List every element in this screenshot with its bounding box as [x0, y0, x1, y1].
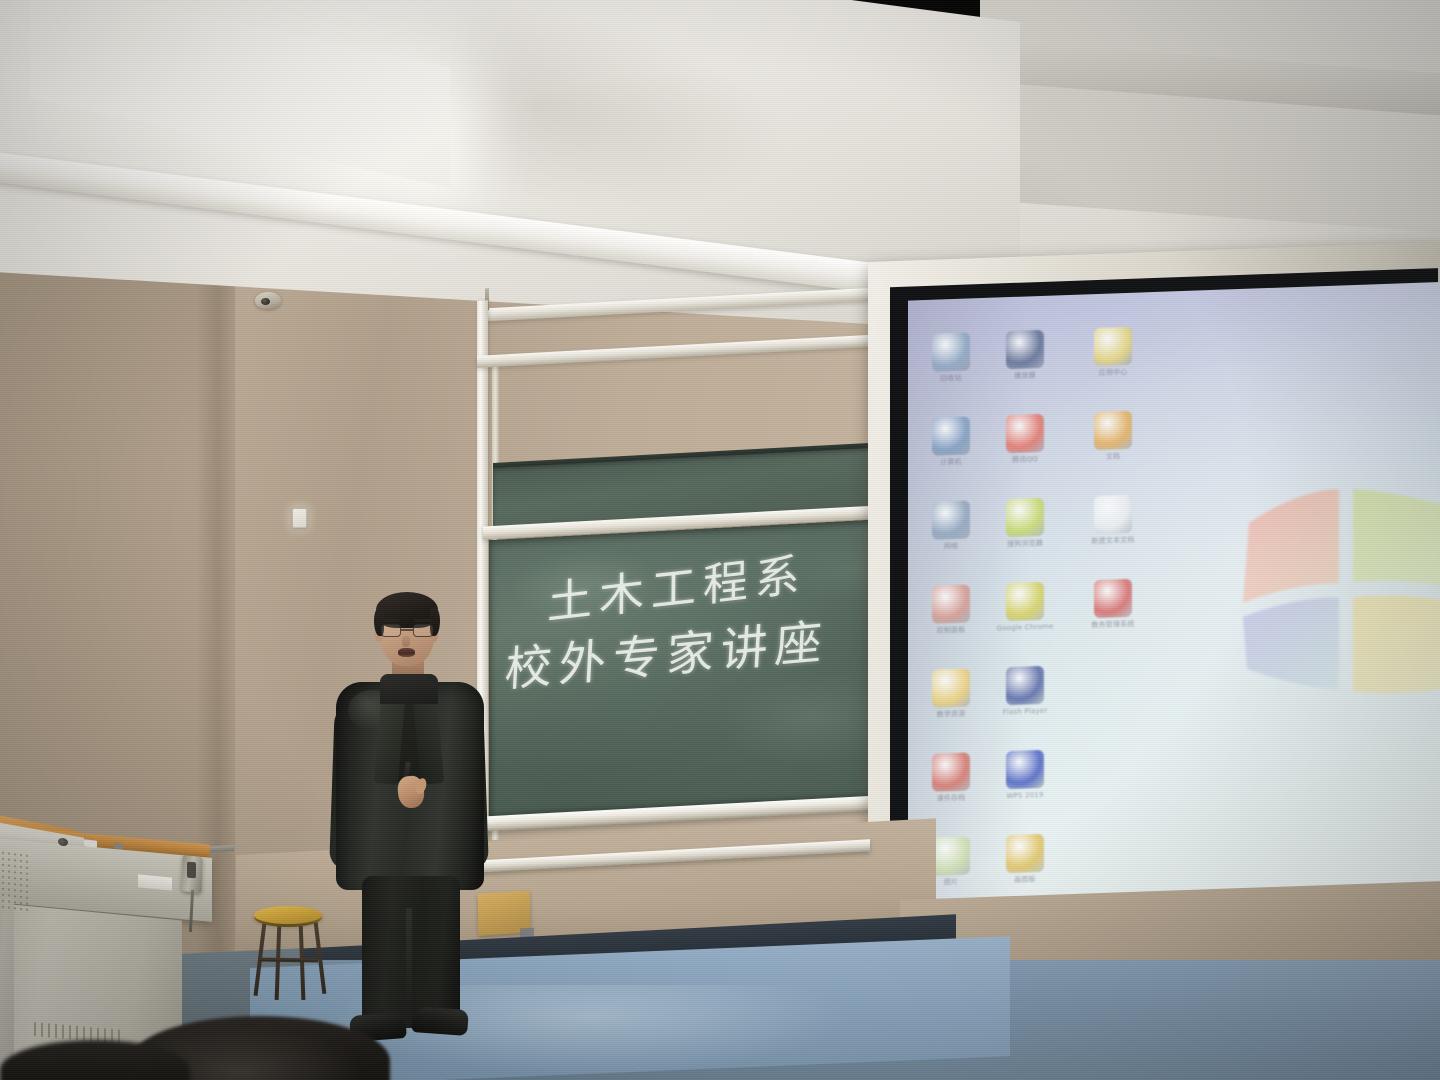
- windows-7-logo-icon: [1213, 461, 1440, 720]
- app-grid-icon: [1094, 327, 1132, 366]
- lecturer-mouth-open: [398, 648, 415, 657]
- main-chalkboard: 土木工程系 校外专家讲座: [489, 517, 925, 818]
- lecturer: [318, 590, 498, 1040]
- desktop-icon-paint-icon[interactable]: 画图板: [994, 833, 1056, 884]
- lecturer-nose: [402, 636, 410, 647]
- desktop-icon-label: 腾讯QQ: [994, 454, 1056, 464]
- desktop-icon-archive-icon[interactable]: 课件存档: [920, 752, 982, 803]
- archive-icon: [932, 752, 970, 791]
- qq-penguin-icon: [1006, 414, 1044, 453]
- projected-desktop[interactable]: 回收站计算机网络控制面板教学资源课件存档图片播放器腾讯QQ搜狗浏览器Google…: [908, 282, 1440, 923]
- lectern-knob[interactable]: [58, 837, 68, 846]
- text-file-icon: [1094, 495, 1132, 534]
- chalkboard-unit: 土木工程系 校外专家讲座: [455, 275, 915, 870]
- desktop-icon-control-panel-icon[interactable]: 控制面板: [920, 584, 982, 635]
- desktop-icon-label: WPS 2019: [994, 790, 1056, 800]
- computer-icon: [932, 416, 970, 455]
- desktop-icon-label: 应用中心: [1082, 367, 1144, 377]
- system-shortcut-icon: [1094, 579, 1132, 618]
- browser-leaf-icon: [1006, 498, 1044, 537]
- stool-seat: [254, 906, 322, 924]
- classroom-photo-scene: 土木工程系 校外专家讲座: [0, 0, 1440, 1080]
- media-player-icon: [1006, 330, 1044, 369]
- folder-icon: [932, 668, 970, 707]
- chrome-icon: [1006, 582, 1044, 621]
- desktop-icon-label: 新建文本文档: [1082, 535, 1144, 545]
- desktop-icon-label: Flash Player: [994, 706, 1056, 716]
- light-switch-plate[interactable]: [292, 508, 307, 528]
- projection-screen-unit: 回收站计算机网络控制面板教学资源课件存档图片播放器腾讯QQ搜狗浏览器Google…: [868, 242, 1440, 962]
- lecturer-hair: [376, 592, 438, 628]
- desktop-icon-label: 搜狗浏览器: [994, 538, 1056, 548]
- desktop-icon-label: 网络: [920, 541, 982, 551]
- recycle-bin-icon: [932, 332, 970, 371]
- desktop-icon-label: 教学资源: [920, 709, 982, 719]
- desktop-icon-label: Google Chrome: [994, 622, 1056, 632]
- control-panel-icon: [932, 584, 970, 623]
- flash-player-icon: [1006, 666, 1044, 705]
- desktop-icon-label: 计算机: [920, 457, 982, 467]
- ceiling-right-section: [980, 0, 1440, 236]
- desktop-icon-label: 控制面板: [920, 625, 982, 635]
- lectern-side-panel: [0, 892, 14, 1080]
- desktop-icon-document-icon[interactable]: 文档: [1082, 410, 1144, 461]
- desktop-icon-label: 文档: [1082, 451, 1144, 461]
- pictures-folder-icon: [932, 836, 970, 875]
- desktop-icon-system-shortcut-icon[interactable]: 教务管理系统: [1082, 578, 1144, 629]
- lecturer-shoe-right: [411, 1006, 469, 1036]
- desktop-icon-network-icon[interactable]: 网络: [920, 500, 982, 551]
- microphone-grille: [187, 862, 196, 879]
- jacket-collar: [380, 674, 438, 704]
- desktop-icon-label: 课件存档: [920, 793, 982, 803]
- desktop-icon-qq-penguin-icon[interactable]: 腾讯QQ: [994, 413, 1056, 464]
- desktop-icon-label: 教务管理系统: [1082, 619, 1144, 629]
- chalkboard-second-rail: [477, 332, 923, 368]
- ceiling-camera-icon: [255, 292, 281, 309]
- desktop-icon-computer-icon[interactable]: 计算机: [920, 416, 982, 467]
- desktop-icon-flash-player-icon[interactable]: Flash Player: [994, 665, 1056, 716]
- desktop-icon-browser-leaf-icon[interactable]: 搜狗浏览器: [994, 497, 1056, 548]
- desktop-icon-media-player-icon[interactable]: 播放器: [994, 329, 1056, 380]
- lectern-button[interactable]: [84, 839, 97, 847]
- desktop-icon-folder-icon[interactable]: 教学资源: [920, 668, 982, 719]
- wps-office-icon: [1006, 750, 1044, 789]
- lectern-button-2[interactable]: [114, 843, 123, 850]
- desktop-icon-recycle-bin-icon[interactable]: 回收站: [920, 332, 982, 383]
- desktop-icon-label: 回收站: [920, 373, 982, 383]
- trouser-leg-seam: [406, 908, 412, 1026]
- desktop-icon-app-grid-icon[interactable]: 应用中心: [1082, 326, 1144, 377]
- document-icon: [1094, 411, 1132, 450]
- desktop-icon-wps-office-icon[interactable]: WPS 2019: [994, 749, 1056, 800]
- desktop-icon-label: 画图板: [994, 874, 1056, 884]
- network-icon: [932, 500, 970, 539]
- desktop-icon-text-file-icon[interactable]: 新建文本文档: [1082, 494, 1144, 545]
- desktop-icon-label: 播放器: [994, 370, 1056, 380]
- lectern-speaker-grille: [0, 848, 32, 915]
- desktop-icon-chrome-icon[interactable]: Google Chrome: [994, 581, 1056, 632]
- paint-icon: [1006, 834, 1044, 873]
